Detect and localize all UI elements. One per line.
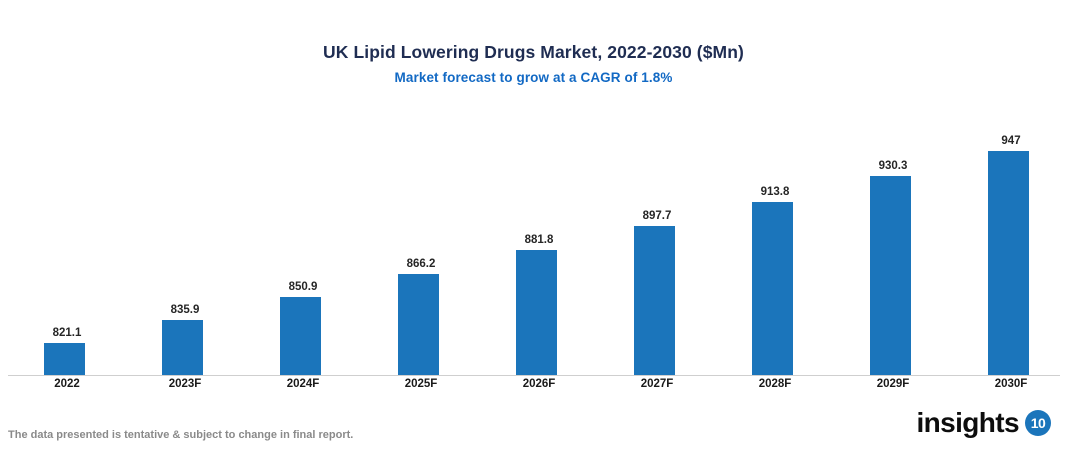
bar-2022[interactable] [44,343,85,375]
bar-value-label: 913.8 [716,186,834,198]
bar-2026F[interactable] [516,250,557,375]
bar-group: 850.9 [244,119,362,375]
bar-group: 947 [952,119,1067,375]
bar-group: 930.3 [834,119,952,375]
bar-group: 913.8 [716,119,834,375]
brand-logo: insights 10 [916,406,1051,440]
bar-group: 866.2 [362,119,480,375]
chart-title: UK Lipid Lowering Drugs Market, 2022-203… [0,42,1067,63]
chart-subtitle: Market forecast to grow at a CAGR of 1.8… [0,70,1067,85]
category-label-2024F: 2024F [244,378,362,390]
bar-value-label: 850.9 [244,281,362,293]
category-label-2027F: 2027F [598,378,716,390]
bar-2025F[interactable] [398,274,439,375]
bar-value-label: 866.2 [362,258,480,270]
category-axis: 20222023F2024F2025F2026F2027F2028F2029F2… [8,378,1060,396]
brand-badge-icon: 10 [1025,410,1051,436]
bar-2030F[interactable] [988,151,1029,375]
bar-group: 835.9 [126,119,244,375]
bar-2024F[interactable] [280,297,321,375]
bar-group: 897.7 [598,119,716,375]
category-label-2028F: 2028F [716,378,834,390]
bar-2028F[interactable] [752,202,793,375]
bar-value-label: 947 [952,135,1067,147]
category-label-2029F: 2029F [834,378,952,390]
plot-area: 821.1835.9850.9866.2881.8897.7913.8930.3… [8,120,1060,376]
bar-group: 821.1 [8,119,126,375]
footnote-disclaimer: The data presented is tentative & subjec… [8,429,353,441]
bar-value-label: 930.3 [834,160,952,172]
category-label-2026F: 2026F [480,378,598,390]
bar-value-label: 897.7 [598,210,716,222]
axis-baseline [8,375,1060,376]
chart-figure: UK Lipid Lowering Drugs Market, 2022-203… [0,0,1067,454]
bar-value-label: 881.8 [480,234,598,246]
bar-2023F[interactable] [162,320,203,375]
bar-2027F[interactable] [634,226,675,375]
bar-group: 881.8 [480,119,598,375]
bar-value-label: 835.9 [126,304,244,316]
bar-value-label: 821.1 [8,327,126,339]
bar-2029F[interactable] [870,176,911,375]
brand-wordmark: insights [916,409,1019,437]
category-label-2025F: 2025F [362,378,480,390]
category-label-2030F: 2030F [952,378,1067,390]
category-label-2022: 2022 [8,378,126,390]
category-label-2023F: 2023F [126,378,244,390]
